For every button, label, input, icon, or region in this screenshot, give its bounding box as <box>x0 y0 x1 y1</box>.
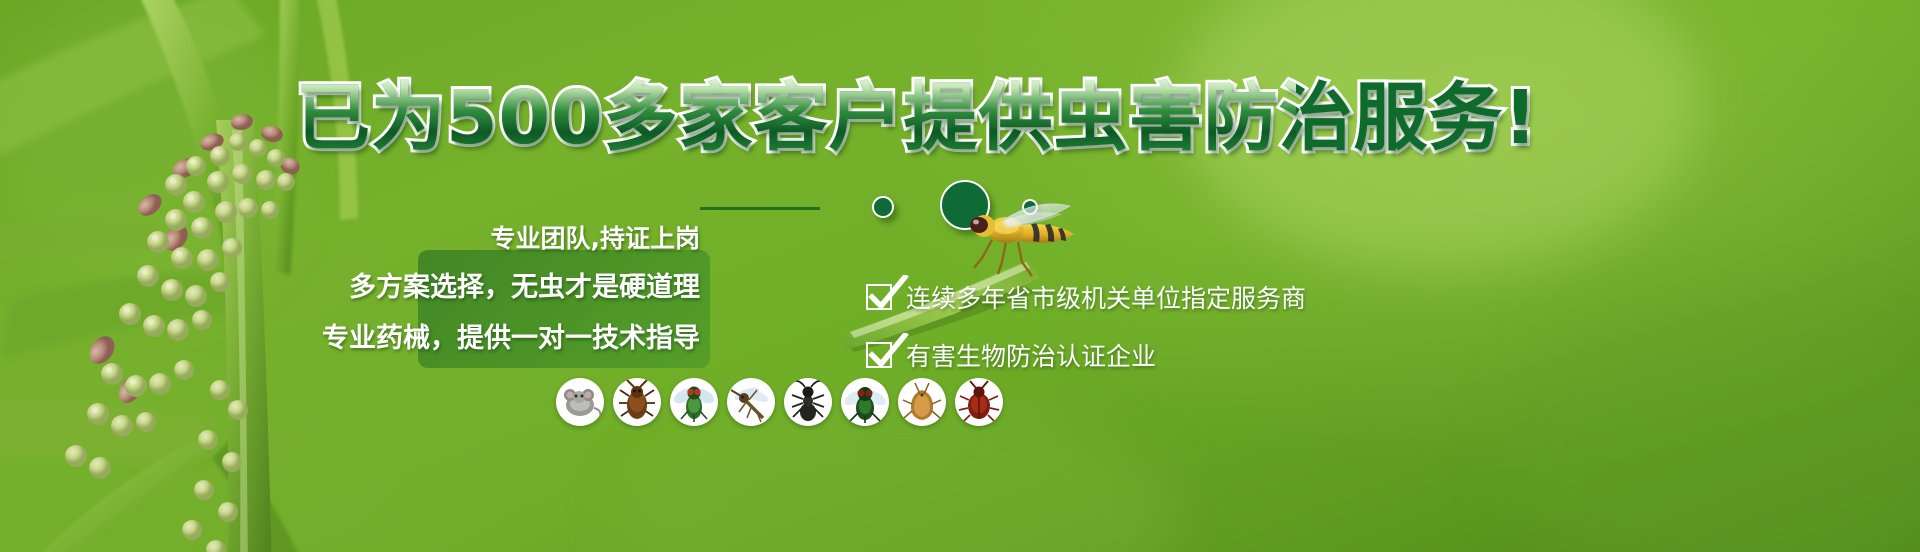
fly-icon[interactable] <box>670 378 718 426</box>
flea-icon[interactable] <box>898 378 946 426</box>
background-blur-blob <box>0 0 300 300</box>
list-item: 有害生物防治认证企业 <box>866 330 1306 380</box>
feature-line-1: 专业团队,持证上岗 <box>491 217 701 261</box>
feature-line-2: 多方案选择，无虫才是硬道理 <box>349 264 700 312</box>
list-item: 连续多年省市级机关单位指定服务商 <box>866 272 1306 322</box>
features-panel-text: 专业团队,持证上岗 多方案选择，无虫才是硬道理 专业药械，提供一对一技术指导 <box>340 212 712 368</box>
decorative-dot-tiny <box>1022 199 1038 215</box>
checkbox-checked-icon <box>866 284 892 310</box>
cockroach-icon[interactable] <box>613 378 661 426</box>
mouse-icon[interactable] <box>556 378 604 426</box>
pest-control-banner: 已为500多家客户提供虫害防治服务! 已为500多家客户提供虫害防治服务! <box>0 0 1920 552</box>
credential-text: 有害生物防治认证企业 <box>906 337 1156 373</box>
decorative-rule <box>700 207 820 210</box>
page-title: 已为500多家客户提供虫害防治服务! <box>296 74 1296 162</box>
pest-icon-row <box>556 378 1003 426</box>
ant-icon[interactable] <box>784 378 832 426</box>
checkbox-checked-icon <box>866 342 892 368</box>
housefly-icon[interactable] <box>841 378 889 426</box>
background-blur-blob <box>1500 300 1920 552</box>
credential-text: 连续多年省市级机关单位指定服务商 <box>906 279 1306 315</box>
mosquito-icon[interactable] <box>727 378 775 426</box>
feature-line-3: 专业药械，提供一对一技术指导 <box>322 315 700 363</box>
credentials-list: 连续多年省市级机关单位指定服务商 有害生物防治认证企业 <box>866 272 1306 380</box>
decorative-dot-large <box>940 180 990 230</box>
bedbug-icon[interactable] <box>955 378 1003 426</box>
decorative-dot-small <box>872 196 894 218</box>
